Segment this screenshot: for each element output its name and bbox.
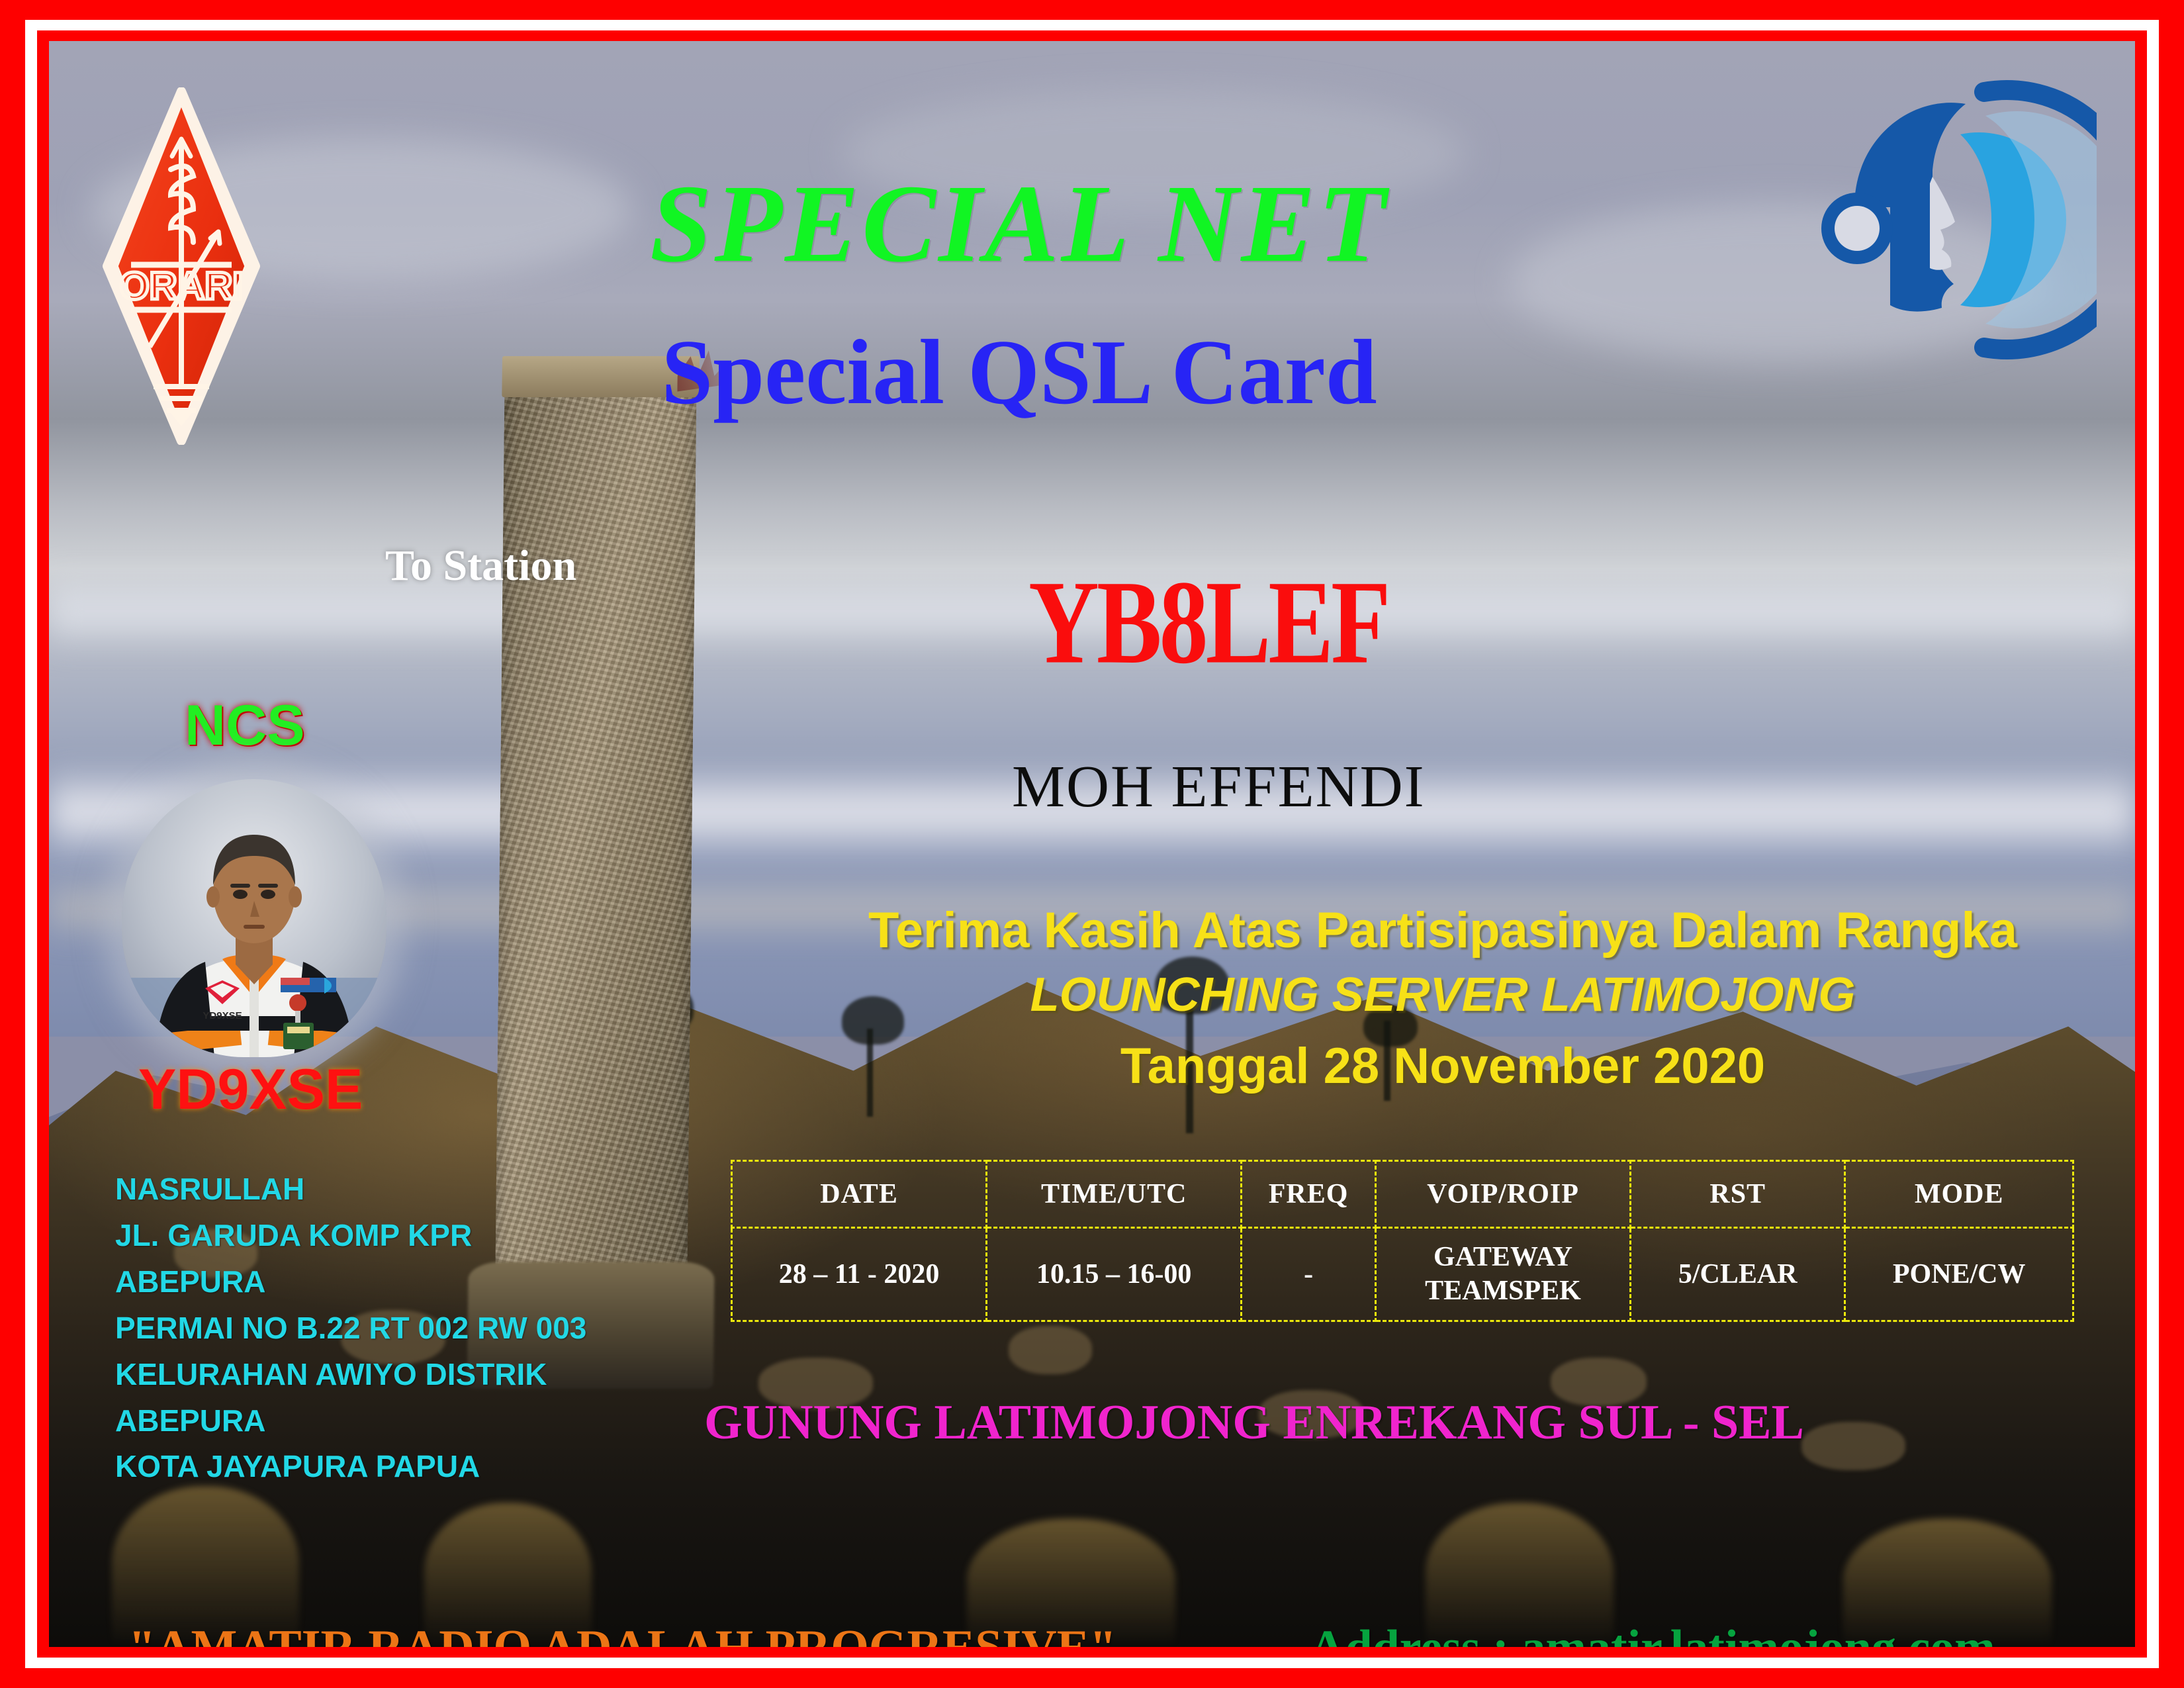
cell-voip-roip: GATEWAY TEAMSPEK xyxy=(1375,1228,1630,1321)
rock-speck xyxy=(1009,1326,1092,1374)
cell-mode: PONE/CW xyxy=(1845,1228,2073,1321)
venue-location-line: GUNUNG LATIMOJONG ENREKANG SUL - SEL xyxy=(211,1395,2135,1451)
cell-freq: - xyxy=(1242,1228,1376,1321)
card-title-special-net: SPECIAL NET xyxy=(49,160,2062,288)
card-subtitle-qsl-card: Special QSL Card xyxy=(49,319,2062,426)
website-address-text: Address : amatir.latimojong.com xyxy=(1310,1620,1995,1647)
address-line: PERMAI NO B.22 RT 002 RW 003 xyxy=(115,1305,586,1352)
to-station-label: To Station xyxy=(385,541,576,591)
ncs-operator-photo: YD9XSE xyxy=(122,779,387,1057)
cell-rst: 5/CLEAR xyxy=(1631,1228,1845,1321)
operator-name: MOH EFFENDI xyxy=(1012,753,1426,821)
cell-voip-roip-line2: TEAMSPEK xyxy=(1377,1274,1629,1308)
station-callsign: YB8LEF xyxy=(1028,554,1388,691)
column-header-time-utc: TIME/UTC xyxy=(987,1161,1242,1228)
column-header-date: DATE xyxy=(732,1161,987,1228)
table-header-row: DATE TIME/UTC FREQ VOIP/ROIP RST MODE xyxy=(732,1161,2073,1228)
qsl-card-frame: ORARI xyxy=(0,0,2184,1688)
column-header-rst: RST xyxy=(1631,1161,1845,1228)
card-photo-area: ORARI xyxy=(49,41,2135,1647)
column-header-mode: MODE xyxy=(1845,1161,2073,1228)
thanks-line-1: Terima Kasih Atas Partisipasinya Dalam R… xyxy=(400,902,2135,959)
ncs-label: NCS xyxy=(185,693,305,759)
table-row: 28 – 11 - 2020 10.15 – 16-00 - GATEWAY T… xyxy=(732,1228,2073,1321)
qso-log-table: DATE TIME/UTC FREQ VOIP/ROIP RST MODE 28… xyxy=(731,1160,2074,1322)
address-line: KELURAHAN AWIYO DISTRIK xyxy=(115,1352,586,1398)
cell-date: 28 – 11 - 2020 xyxy=(732,1228,987,1321)
address-line: JL. GARUDA KOMP KPR xyxy=(115,1213,586,1259)
event-name-line: LOUNCHING SERVER LATIMOJONG xyxy=(400,968,2135,1022)
event-date-line: Tanggal 28 November 2020 xyxy=(400,1037,2135,1095)
motto-text: "AMATIR RADIO ADALAH PROGRESIVE" xyxy=(128,1620,1116,1647)
column-header-voip-roip: VOIP/ROIP xyxy=(1375,1161,1630,1228)
ncs-callsign: YD9XSE xyxy=(138,1057,363,1123)
address-line: NASRULLAH xyxy=(115,1166,586,1213)
column-header-freq: FREQ xyxy=(1242,1161,1376,1228)
cell-voip-roip-line1: GATEWAY xyxy=(1377,1241,1629,1274)
address-line: ABEPURA xyxy=(115,1259,586,1305)
uniform-callsign-text: YD9XSE xyxy=(203,1010,242,1021)
cell-time-utc: 10.15 – 16-00 xyxy=(987,1228,1242,1321)
